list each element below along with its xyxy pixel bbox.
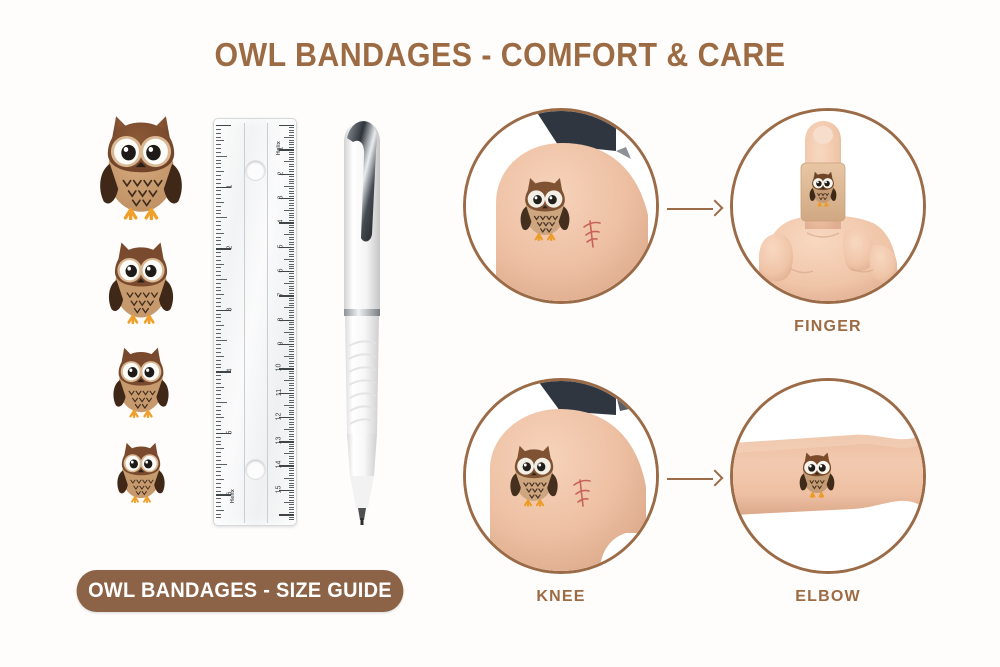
- ruler: 123456123456789101112131415 Helix Helix: [213, 118, 297, 526]
- ruler-cm-label: 3: [278, 196, 285, 200]
- circle-frame: [730, 378, 926, 574]
- panel-label-knee: KNEE: [463, 588, 659, 606]
- ruler-cm-label: 13: [276, 437, 283, 445]
- arrow-head-icon: [707, 470, 724, 487]
- size-guide-pill-button[interactable]: OWL BANDAGES - SIZE GUIDE: [77, 570, 404, 612]
- circle-frame: [463, 108, 659, 304]
- hand-photo-illustration: [733, 111, 923, 301]
- ruler-inch-label: 2: [226, 246, 233, 250]
- ruler-cm-label: 2: [278, 171, 285, 175]
- owl-bandage-large: [78, 108, 203, 220]
- pen: [326, 116, 398, 528]
- owl-bandage-medium: [78, 236, 203, 324]
- ruler-cm-label: 4: [278, 220, 285, 224]
- page-title: OWL BANDAGES - COMFORT & CARE: [40, 36, 960, 74]
- knee-photo-illustration: [466, 381, 656, 571]
- circle-shoulder-bandage[interactable]: [463, 108, 659, 304]
- ruler-inch-label: 1: [226, 184, 233, 188]
- panel-knee[interactable]: KNEE: [463, 378, 663, 606]
- circle-knee-bandage[interactable]: [463, 378, 659, 574]
- owl-bandage-small: [78, 342, 203, 418]
- circle-hand-finger-bandage[interactable]: [730, 108, 926, 304]
- ruler-cm-label: 12: [276, 412, 283, 420]
- circle-frame: [463, 378, 659, 574]
- ruler-inch-label: 3: [226, 307, 233, 311]
- size-guide-section: 123456123456789101112131415 Helix Helix: [0, 100, 440, 570]
- panel-label-elbow: ELBOW: [730, 588, 926, 606]
- owl-icon: [106, 342, 176, 418]
- infographic-page: OWL BANDAGES - COMFORT & CARE: [0, 0, 1000, 667]
- arrow-head-icon: [707, 200, 724, 217]
- ruler-cm-label: 8: [278, 317, 285, 321]
- panel-finger-after[interactable]: FINGER: [730, 108, 930, 336]
- owl-icon: [111, 438, 171, 503]
- owl-icon: [89, 108, 193, 220]
- ruler-cm-label: 15: [276, 485, 283, 493]
- panel-finger-before[interactable]: [463, 108, 663, 304]
- application-panels-section: FINGER: [455, 100, 1000, 630]
- ruler-brand-top: Helix: [276, 141, 282, 155]
- arrow-elbow: [667, 468, 727, 490]
- owl-bandage-extra-small: [78, 438, 203, 503]
- ruler-cm-label: 9: [278, 341, 285, 345]
- arm-photo-illustration: [733, 381, 923, 571]
- shoulder-photo-illustration: [466, 111, 656, 301]
- ruler-cm-label: 10: [276, 364, 283, 372]
- pen-illustration: [326, 116, 398, 528]
- ruler-hole-bottom: [246, 460, 265, 479]
- owl-icon: [100, 236, 182, 324]
- ruler-cm-label: 5: [278, 244, 285, 248]
- panel-elbow[interactable]: ELBOW: [730, 378, 930, 606]
- panel-label-finger: FINGER: [730, 318, 926, 336]
- ruler-cm-label: 14: [276, 461, 283, 469]
- ruler-cm-label: 11: [276, 388, 283, 395]
- circle-elbow-bandage[interactable]: [730, 378, 926, 574]
- ruler-cm-label: 6: [278, 268, 285, 272]
- ruler-hole-top: [246, 161, 265, 180]
- ruler-cm-label: 7: [278, 293, 285, 297]
- ruler-inch-label: 4: [226, 369, 233, 373]
- arrow-finger: [667, 198, 727, 220]
- circle-frame: [730, 108, 926, 304]
- owl-size-stack: [78, 108, 203, 538]
- ruler-inch-label: 5: [226, 430, 233, 434]
- ruler-brand-bottom: Helix: [230, 489, 236, 503]
